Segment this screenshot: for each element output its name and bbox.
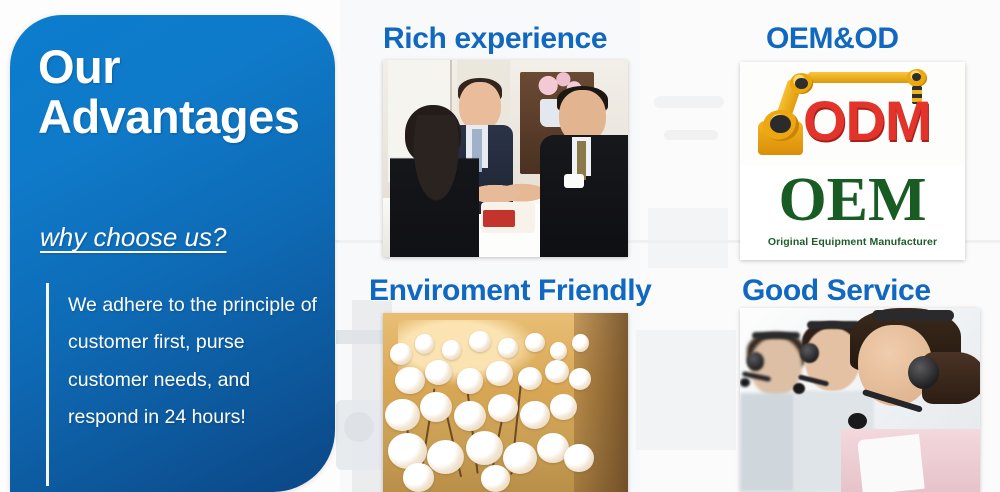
panel-title: Our Advantages bbox=[38, 42, 328, 143]
panel-divider bbox=[46, 283, 49, 486]
odm-wordmark: ODM bbox=[803, 86, 965, 157]
panel-subtitle: why choose us? bbox=[40, 222, 226, 253]
heading-rich-experience: Rich experience bbox=[383, 22, 607, 56]
photo-oem-odm-logo: ODM OEM Original Equipment Manufacturer bbox=[740, 62, 965, 260]
photo-cotton-field bbox=[383, 313, 628, 492]
robot-arm-icon bbox=[808, 72, 916, 83]
panel-title-line1: Our bbox=[38, 42, 328, 92]
oem-wordmark: OEM bbox=[740, 169, 965, 231]
panel-title-line2: Advantages bbox=[38, 92, 328, 142]
panel-body-text: We adhere to the principle of customer f… bbox=[68, 287, 318, 437]
advantages-banner: Our Advantages why choose us? We adhere … bbox=[0, 0, 1000, 492]
photo-rich-experience bbox=[383, 60, 628, 257]
photo-customer-service bbox=[740, 308, 980, 492]
advantages-panel: Our Advantages why choose us? We adhere … bbox=[10, 15, 335, 492]
heading-environment-friendly: Enviroment Friendly bbox=[369, 274, 651, 308]
oem-caption: Original Equipment Manufacturer bbox=[740, 236, 965, 248]
headset-icon bbox=[872, 310, 954, 321]
heading-oem-od: OEM&OD bbox=[766, 22, 899, 56]
heading-good-service: Good Service bbox=[742, 274, 931, 308]
